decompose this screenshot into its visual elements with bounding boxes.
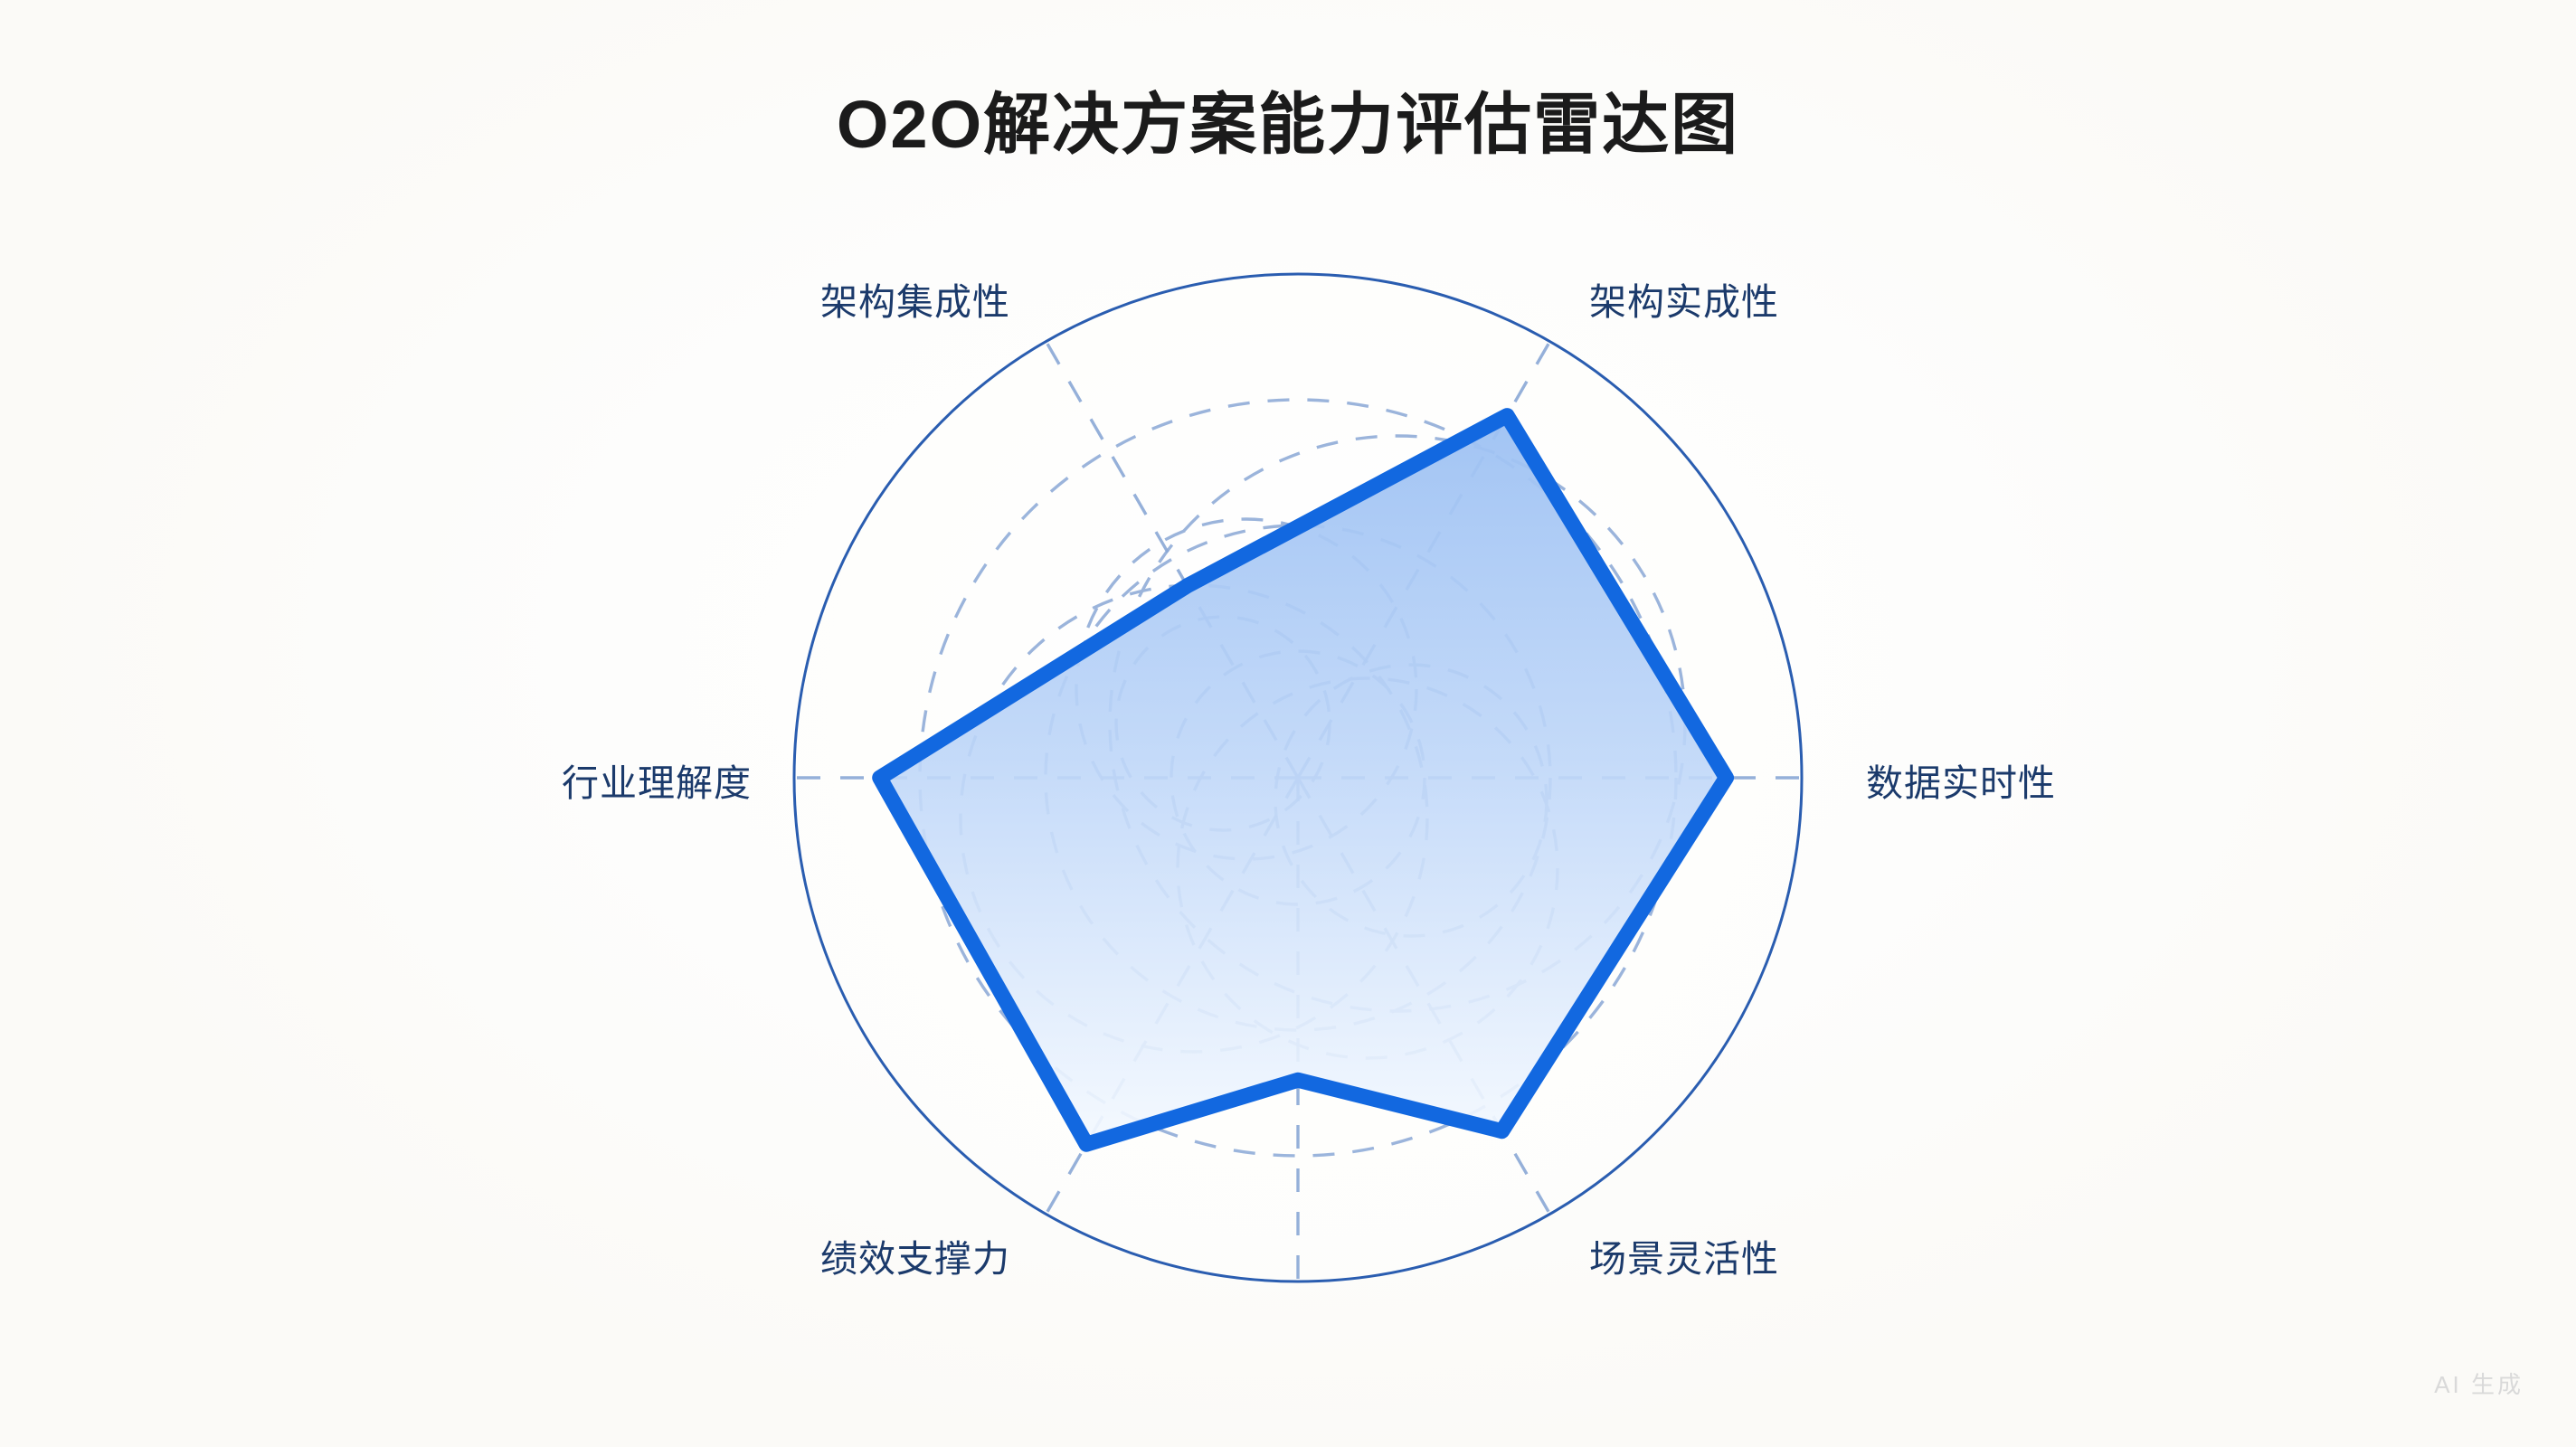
axis-label-industry-understanding: 行业理解度 bbox=[562, 752, 752, 807]
watermark: AI 生成 bbox=[2434, 1367, 2524, 1400]
radar-chart: 架构集成性 架构实成性 数据实时性 场景灵活性 绩效支撑力 行业理解度 bbox=[0, 0, 2576, 1447]
axis-label-arch-completion: 架构实成性 bbox=[1589, 271, 1779, 326]
axis-label-data-realtime: 数据实时性 bbox=[1866, 752, 2056, 807]
radar-svg bbox=[0, 0, 2576, 1447]
axis-label-perf-support: 绩效支撑力 bbox=[820, 1228, 1010, 1282]
axis-label-arch-integration: 架构集成性 bbox=[820, 271, 1010, 326]
axis-label-scene-flex: 场景灵活性 bbox=[1589, 1228, 1779, 1282]
